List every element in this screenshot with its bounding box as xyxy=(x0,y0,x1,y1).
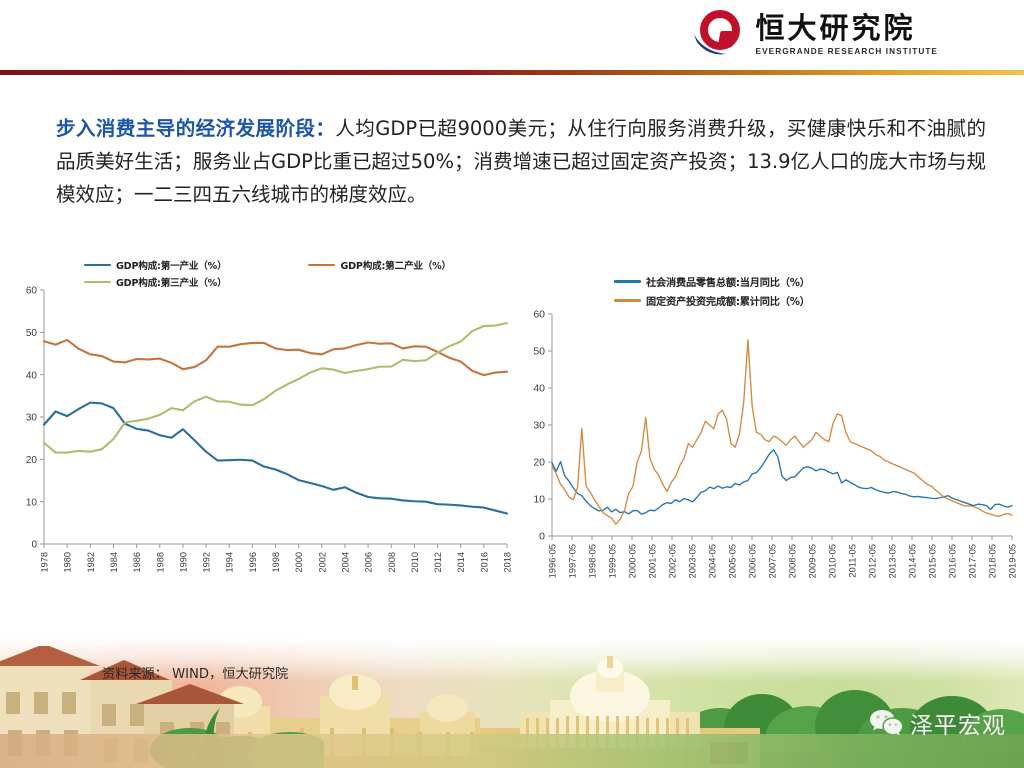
chart-legend-retail-fai: 社会消费品零售总额:当月同比（%） 固定资产投资完成额:累计同比（%） xyxy=(518,258,1018,308)
legend-item-primary-industry[interactable]: GDP构成:第一产业（%） xyxy=(84,258,226,272)
legend-swatch-primary-industry xyxy=(84,264,111,267)
svg-text:2008-05: 2008-05 xyxy=(787,544,798,578)
footer-banner-image xyxy=(0,638,1024,768)
svg-text:1998: 1998 xyxy=(271,552,281,572)
svg-text:2004-05: 2004-05 xyxy=(707,544,718,578)
wechat-icon xyxy=(869,708,903,738)
svg-text:20: 20 xyxy=(533,457,545,469)
evergrande-logo-icon xyxy=(693,10,747,60)
svg-text:2012-05: 2012-05 xyxy=(867,544,878,578)
svg-text:1996-05: 1996-05 xyxy=(547,544,558,578)
chart-svg-gdp: 0102030405060197819801982198419861988199… xyxy=(10,282,515,602)
svg-text:30: 30 xyxy=(26,413,38,424)
svg-text:2005-05: 2005-05 xyxy=(727,544,738,578)
svg-text:1982: 1982 xyxy=(86,552,96,572)
svg-text:1992: 1992 xyxy=(202,552,212,572)
svg-text:50: 50 xyxy=(26,328,38,339)
page-title: 步入消费主导的经济发展阶段：人均GDP已超9000美元；从住行向服务消费升级，买… xyxy=(56,112,986,211)
charts-row: GDP构成:第一产业（%） GDP构成:第二产业（%） GDP构成:第三产业（%… xyxy=(0,258,1024,603)
svg-text:2000: 2000 xyxy=(294,552,304,572)
svg-text:1986: 1986 xyxy=(132,552,142,572)
svg-text:2008: 2008 xyxy=(387,552,397,572)
svg-text:2004: 2004 xyxy=(340,552,350,572)
svg-text:2000-05: 2000-05 xyxy=(627,544,638,578)
svg-text:2006-05: 2006-05 xyxy=(747,544,758,578)
legend-item-retail-sales[interactable]: 社会消费品零售总额:当月同比（%） xyxy=(614,274,810,289)
svg-text:10: 10 xyxy=(26,497,38,508)
brand-name-cn: 恒大研究院 xyxy=(756,14,938,43)
svg-text:2011-05: 2011-05 xyxy=(847,544,858,578)
svg-text:2012: 2012 xyxy=(433,552,443,572)
svg-text:1980: 1980 xyxy=(63,552,73,572)
title-lead: 步入消费主导的经济发展阶段： xyxy=(56,117,335,140)
svg-text:1984: 1984 xyxy=(109,552,119,572)
svg-text:2016: 2016 xyxy=(479,552,489,572)
svg-text:60: 60 xyxy=(533,309,545,321)
svg-text:1998-05: 1998-05 xyxy=(587,544,598,578)
legend-label-retail-sales: 社会消费品零售总额:当月同比（%） xyxy=(646,274,810,289)
slide-header: 恒大研究院 EVERGRANDE RESEARCH INSTITUTE xyxy=(0,0,1024,70)
svg-text:2002: 2002 xyxy=(317,552,327,572)
svg-text:50: 50 xyxy=(533,346,545,358)
svg-text:1996: 1996 xyxy=(248,552,258,572)
svg-text:2006: 2006 xyxy=(364,552,374,572)
watermark: 泽平宏观 xyxy=(869,706,1006,740)
svg-text:20: 20 xyxy=(26,455,38,466)
svg-text:0: 0 xyxy=(539,531,545,543)
legend-label-secondary-industry: GDP构成:第二产业（%） xyxy=(340,258,450,272)
legend-swatch-secondary-industry xyxy=(308,264,335,267)
source-note: 资料来源： WIND，恒大研究院 xyxy=(102,663,288,682)
svg-text:40: 40 xyxy=(26,370,38,381)
svg-text:0: 0 xyxy=(31,540,37,551)
chart-retail-fai: 社会消费品零售总额:当月同比（%） 固定资产投资完成额:累计同比（%） 0102… xyxy=(518,258,1018,603)
svg-text:2007-05: 2007-05 xyxy=(767,544,778,578)
svg-text:2016-05: 2016-05 xyxy=(947,544,958,578)
brand-logo: 恒大研究院 EVERGRANDE RESEARCH INSTITUTE xyxy=(693,10,938,60)
svg-text:1990: 1990 xyxy=(178,552,188,572)
legend-item-secondary-industry[interactable]: GDP构成:第二产业（%） xyxy=(308,258,450,272)
watermark-text: 泽平宏观 xyxy=(910,706,1006,740)
svg-text:2015-05: 2015-05 xyxy=(927,544,938,578)
svg-text:2018-05: 2018-05 xyxy=(987,544,998,578)
svg-text:2002-05: 2002-05 xyxy=(667,544,678,578)
svg-text:2003-05: 2003-05 xyxy=(687,544,698,578)
svg-text:2014-05: 2014-05 xyxy=(907,544,918,578)
chart-gdp-composition: GDP构成:第一产业（%） GDP构成:第二产业（%） GDP构成:第三产业（%… xyxy=(10,258,515,603)
svg-text:2001-05: 2001-05 xyxy=(647,544,658,578)
svg-text:2018: 2018 xyxy=(503,552,513,572)
svg-text:1999-05: 1999-05 xyxy=(607,544,618,578)
svg-text:2017-05: 2017-05 xyxy=(967,544,978,578)
svg-text:60: 60 xyxy=(26,286,38,297)
title-paragraph: 步入消费主导的经济发展阶段：人均GDP已超9000美元；从住行向服务消费升级，买… xyxy=(56,112,986,211)
slide-root: 恒大研究院 EVERGRANDE RESEARCH INSTITUTE 步入消费… xyxy=(0,0,1024,768)
chart-plot-gdp: 0102030405060197819801982198419861988199… xyxy=(10,282,515,602)
svg-text:40: 40 xyxy=(533,383,545,395)
brand-name-en: EVERGRANDE RESEARCH INSTITUTE xyxy=(756,48,938,56)
svg-text:1997-05: 1997-05 xyxy=(567,544,578,578)
svg-text:1988: 1988 xyxy=(155,552,165,572)
svg-text:2014: 2014 xyxy=(456,552,466,572)
svg-text:2019-05: 2019-05 xyxy=(1007,544,1018,578)
svg-text:2009-05: 2009-05 xyxy=(807,544,818,578)
svg-text:1978: 1978 xyxy=(40,552,50,572)
svg-text:2013-05: 2013-05 xyxy=(887,544,898,578)
legend-swatch-fixed-asset-investment xyxy=(614,299,641,302)
svg-text:2010: 2010 xyxy=(410,552,420,572)
legend-swatch-retail-sales xyxy=(614,280,641,283)
legend-label-primary-industry: GDP构成:第一产业（%） xyxy=(116,258,226,272)
svg-text:10: 10 xyxy=(533,494,545,506)
svg-text:30: 30 xyxy=(533,420,545,432)
brand-logo-text: 恒大研究院 EVERGRANDE RESEARCH INSTITUTE xyxy=(756,14,938,56)
svg-text:1994: 1994 xyxy=(225,552,235,572)
svg-text:2010-05: 2010-05 xyxy=(827,544,838,578)
logo-swoosh-icon xyxy=(693,32,727,56)
chart-svg-retail-fai: 01020304050601996-051997-051998-051999-0… xyxy=(518,306,1018,602)
chart-plot-retail-fai: 01020304050601996-051997-051998-051999-0… xyxy=(518,306,1018,602)
header-divider xyxy=(0,70,1024,75)
